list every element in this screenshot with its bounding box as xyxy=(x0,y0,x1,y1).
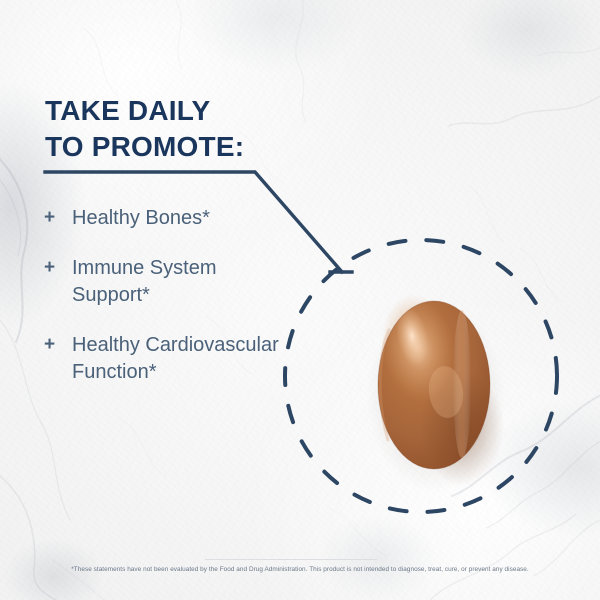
disclaimer-text: *These statements have not been evaluate… xyxy=(0,566,600,574)
product-callout xyxy=(0,0,600,600)
footer-divider xyxy=(205,559,377,560)
product-benefits-graphic: TAKE DAILY TO PROMOTE: + Healthy Bones* … xyxy=(0,0,600,600)
